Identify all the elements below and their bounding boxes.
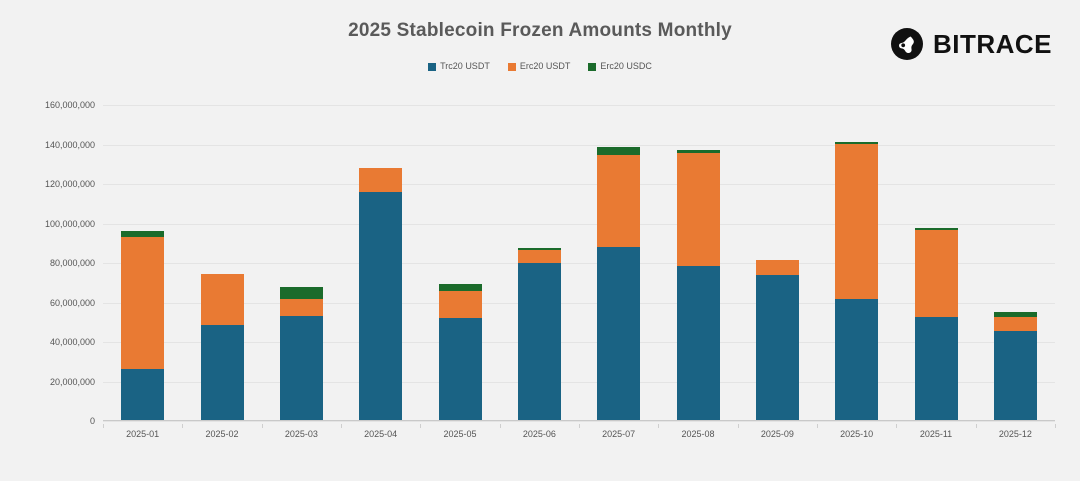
bar-segment[interactable] bbox=[677, 153, 720, 266]
x-tick-mark bbox=[341, 424, 342, 428]
x-tick-label: 2025-10 bbox=[840, 429, 873, 439]
x-tick-mark bbox=[658, 424, 659, 428]
x-axis: 2025-012025-022025-032025-042025-052025-… bbox=[103, 424, 1055, 448]
legend-item-trc20-usdt[interactable]: Trc20 USDT bbox=[428, 62, 490, 71]
y-tick-label: 160,000,000 bbox=[45, 100, 95, 110]
x-tick-mark bbox=[420, 424, 421, 428]
bar-group[interactable] bbox=[359, 168, 402, 421]
chart-container: 2025 Stablecoin Frozen Amounts Monthly B… bbox=[0, 0, 1080, 481]
x-tick-mark bbox=[182, 424, 183, 428]
bar-group[interactable] bbox=[280, 287, 323, 421]
bar-group[interactable] bbox=[756, 260, 799, 421]
plot-area bbox=[103, 105, 1055, 421]
bar-group[interactable] bbox=[835, 142, 878, 421]
y-tick-label: 40,000,000 bbox=[50, 337, 95, 347]
y-tick-label: 20,000,000 bbox=[50, 377, 95, 387]
x-axis-line bbox=[103, 420, 1055, 421]
bitrace-globe-icon bbox=[890, 27, 924, 61]
chart-legend: Trc20 USDT Erc20 USDT Erc20 USDC bbox=[0, 62, 1080, 71]
gridline bbox=[103, 421, 1055, 422]
bar-segment[interactable] bbox=[121, 369, 164, 421]
legend-label-trc20-usdt: Trc20 USDT bbox=[440, 62, 490, 71]
bar-segment[interactable] bbox=[359, 168, 402, 192]
bar-segment[interactable] bbox=[915, 230, 958, 316]
bar-segment[interactable] bbox=[280, 299, 323, 316]
bar-segment[interactable] bbox=[359, 192, 402, 421]
bar-segment[interactable] bbox=[518, 263, 561, 421]
legend-swatch-trc20-usdt bbox=[428, 63, 436, 71]
y-tick-label: 120,000,000 bbox=[45, 179, 95, 189]
bar-segment[interactable] bbox=[835, 144, 878, 299]
legend-swatch-erc20-usdt bbox=[508, 63, 516, 71]
x-tick-label: 2025-04 bbox=[364, 429, 397, 439]
bar-segment[interactable] bbox=[201, 274, 244, 325]
bar-segment[interactable] bbox=[597, 247, 640, 421]
x-tick-mark bbox=[579, 424, 580, 428]
x-tick-label: 2025-03 bbox=[285, 429, 318, 439]
bar-segment[interactable] bbox=[280, 316, 323, 421]
legend-label-erc20-usdc: Erc20 USDC bbox=[600, 62, 652, 71]
bar-group[interactable] bbox=[597, 147, 640, 421]
x-tick-mark bbox=[103, 424, 104, 428]
bar-group[interactable] bbox=[677, 150, 720, 421]
bar-group[interactable] bbox=[121, 231, 164, 421]
bars-layer bbox=[103, 105, 1055, 421]
bar-group[interactable] bbox=[518, 248, 561, 421]
bar-segment[interactable] bbox=[597, 155, 640, 247]
x-tick-mark bbox=[738, 424, 739, 428]
bar-segment[interactable] bbox=[835, 299, 878, 421]
bar-segment[interactable] bbox=[439, 291, 482, 319]
x-tick-label: 2025-02 bbox=[205, 429, 238, 439]
x-tick-mark bbox=[817, 424, 818, 428]
y-tick-label: 140,000,000 bbox=[45, 140, 95, 150]
bar-segment[interactable] bbox=[915, 317, 958, 421]
x-tick-mark bbox=[1055, 424, 1056, 428]
x-tick-label: 2025-05 bbox=[443, 429, 476, 439]
legend-item-erc20-usdt[interactable]: Erc20 USDT bbox=[508, 62, 571, 71]
x-tick-label: 2025-09 bbox=[761, 429, 794, 439]
x-tick-label: 2025-01 bbox=[126, 429, 159, 439]
bar-segment[interactable] bbox=[518, 250, 561, 263]
bar-group[interactable] bbox=[439, 284, 482, 421]
bar-segment[interactable] bbox=[597, 147, 640, 154]
legend-label-erc20-usdt: Erc20 USDT bbox=[520, 62, 571, 71]
x-tick-label: 2025-08 bbox=[681, 429, 714, 439]
bitrace-logo: BITRACE bbox=[890, 27, 1052, 61]
bar-segment[interactable] bbox=[439, 318, 482, 421]
legend-swatch-erc20-usdc bbox=[588, 63, 596, 71]
y-axis: 020,000,00040,000,00060,000,00080,000,00… bbox=[0, 105, 95, 421]
x-tick-label: 2025-12 bbox=[999, 429, 1032, 439]
x-tick-mark bbox=[976, 424, 977, 428]
y-tick-label: 80,000,000 bbox=[50, 258, 95, 268]
x-tick-mark bbox=[896, 424, 897, 428]
bar-segment[interactable] bbox=[756, 275, 799, 421]
bar-group[interactable] bbox=[994, 312, 1037, 421]
bitrace-wordmark: BITRACE bbox=[933, 31, 1052, 57]
x-tick-mark bbox=[262, 424, 263, 428]
x-tick-label: 2025-06 bbox=[523, 429, 556, 439]
bar-segment[interactable] bbox=[756, 260, 799, 275]
bar-group[interactable] bbox=[915, 228, 958, 421]
bar-segment[interactable] bbox=[994, 317, 1037, 331]
x-tick-mark bbox=[500, 424, 501, 428]
bar-segment[interactable] bbox=[439, 284, 482, 291]
bar-segment[interactable] bbox=[677, 266, 720, 421]
legend-item-erc20-usdc[interactable]: Erc20 USDC bbox=[588, 62, 652, 71]
bar-group[interactable] bbox=[201, 274, 244, 421]
bar-segment[interactable] bbox=[201, 325, 244, 421]
y-tick-label: 60,000,000 bbox=[50, 298, 95, 308]
bar-segment[interactable] bbox=[280, 287, 323, 299]
x-tick-label: 2025-11 bbox=[920, 429, 952, 439]
y-tick-label: 100,000,000 bbox=[45, 219, 95, 229]
bar-segment[interactable] bbox=[121, 237, 164, 369]
y-tick-label: 0 bbox=[90, 416, 95, 426]
bar-segment[interactable] bbox=[994, 331, 1037, 421]
x-tick-label: 2025-07 bbox=[602, 429, 635, 439]
